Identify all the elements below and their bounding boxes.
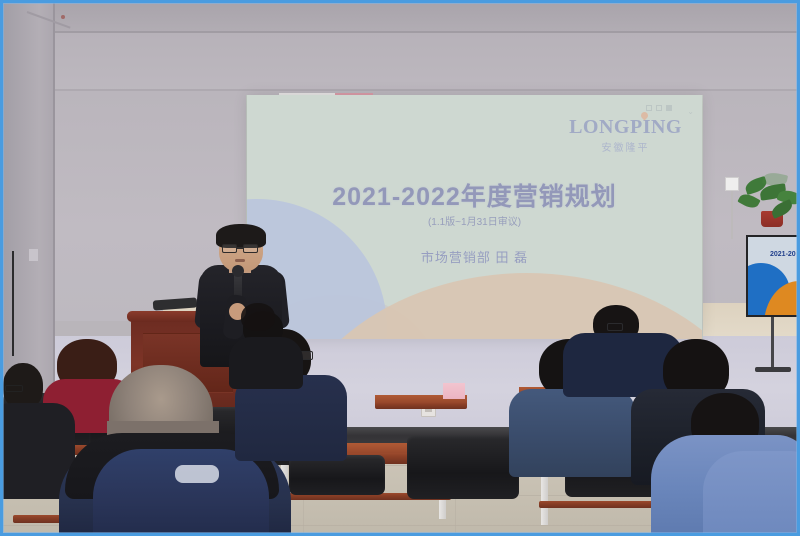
side-monitor: 2021-20 [746,235,800,317]
upper-wall [3,33,800,93]
brand-logo: LONGPING 安徽隆平 [569,117,682,154]
chevron-down-icon[interactable]: ⌄ [687,107,694,116]
slide-subtitle: (1.1版~1月31日审议) [247,213,702,228]
pillar-edge [53,3,55,423]
glasses-lens-right [243,244,258,253]
microphone-head [232,265,244,277]
glasses-lens [607,323,623,331]
conference-room-photo: ⌄ LONGPING 安徽隆平 2021-2022年度营销规划 (1.1版~1月… [0,0,800,536]
audience-torso [229,337,303,389]
chair[interactable] [407,435,519,499]
audience-vest [93,449,269,536]
wall-plate-left [29,249,38,261]
vest-reflective-patch [175,465,219,483]
chair[interactable] [289,455,385,495]
desk-shelf [539,501,659,508]
audience-head [241,303,275,331]
slide-title: 2021-2022年度营销规划 [247,177,702,213]
presenter-mouth [235,259,245,262]
monitor-slide-title: 2021-20 [770,251,796,258]
glasses-lens [5,385,23,392]
minimize-icon[interactable] [646,105,652,111]
wall-cord-left [12,251,14,356]
desk [375,402,467,409]
ceiling-band [3,3,800,33]
close-icon[interactable] [666,105,672,111]
desk-leg [541,475,548,525]
brand-chinese-name: 安徽隆平 [569,139,682,154]
maximize-icon[interactable] [656,105,662,111]
brand-wordmark: LONGPING [569,117,682,137]
wall-cord-right [731,191,733,239]
projection-screen: ⌄ LONGPING 安徽隆平 2021-2022年度营销规划 (1.1版~1月… [247,95,702,339]
wall-speaker-box [725,177,739,191]
puffer-panel [703,451,800,536]
slide-window-controls[interactable] [646,105,672,111]
audience-torso [509,389,635,477]
wall-mark [61,15,65,19]
wall-pillar [3,3,55,423]
glasses-bridge [237,247,243,249]
slide-author: 市场营销部 田 磊 [247,247,702,266]
monitor-base [755,367,791,372]
monitor-stand [771,317,774,369]
glasses-lens-left [222,244,237,253]
name-card [443,383,465,399]
